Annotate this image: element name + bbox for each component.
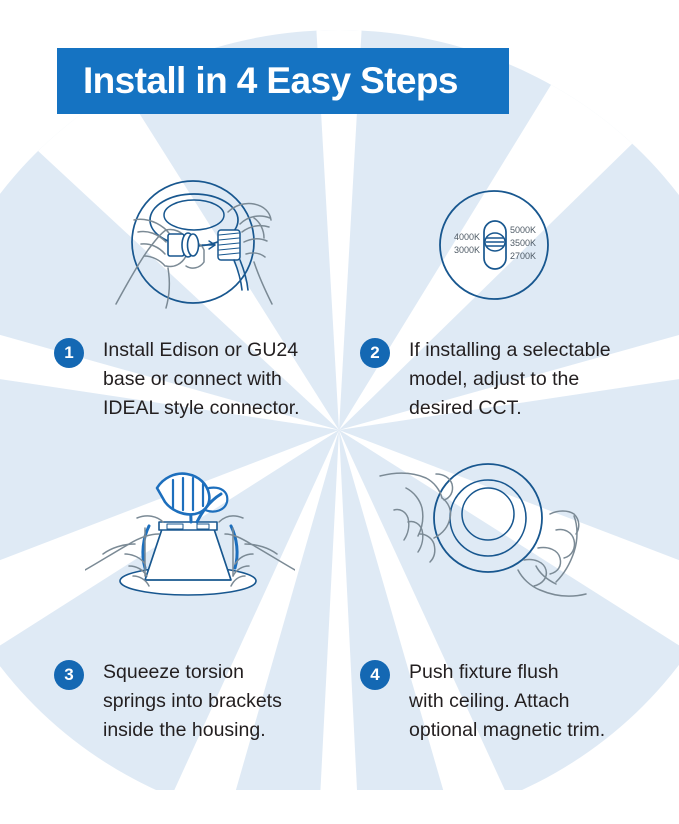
- step-1-text: Install Edison or GU24 base or connect w…: [103, 336, 300, 423]
- step-4-text: Push fixture flush with ceiling. Attach …: [409, 658, 605, 745]
- step-4-badge: 4: [360, 660, 390, 690]
- step-3-text: Squeeze torsion springs into brackets in…: [103, 658, 282, 745]
- step-2-text: If installing a selectable model, adjust…: [409, 336, 611, 423]
- step-2-badge: 2: [360, 338, 390, 368]
- illustration-step-1: [108, 172, 278, 317]
- step-4-caption: 4 Push fixture flush with ceiling. Attac…: [360, 658, 660, 745]
- page-title: Install in 4 Easy Steps: [83, 60, 458, 102]
- step-1-badge: 1: [54, 338, 84, 368]
- install-steps-poster: Install in 4 Easy Steps: [0, 0, 679, 824]
- step-3-badge: 3: [54, 660, 84, 690]
- step-1-caption: 1 Install Edison or GU24 base or connect…: [54, 336, 344, 423]
- step-3-caption: 3 Squeeze torsion springs into brackets …: [54, 658, 344, 745]
- step-2-caption: 2 If installing a selectable model, adju…: [360, 336, 660, 423]
- cct-label-right-1: 3500K: [510, 238, 536, 248]
- cct-label-right-2: 2700K: [510, 251, 536, 261]
- illustration-step-3: [85, 458, 295, 613]
- page-title-banner: Install in 4 Easy Steps: [57, 48, 509, 114]
- cct-label-left-0: 4000K: [454, 232, 480, 242]
- illustration-step-4: [378, 452, 588, 607]
- cct-label-right-0: 5000K: [510, 225, 536, 235]
- cct-label-left-1: 3000K: [454, 245, 480, 255]
- illustration-step-2: 4000K 3000K 5000K 3500K 2700K: [430, 185, 558, 310]
